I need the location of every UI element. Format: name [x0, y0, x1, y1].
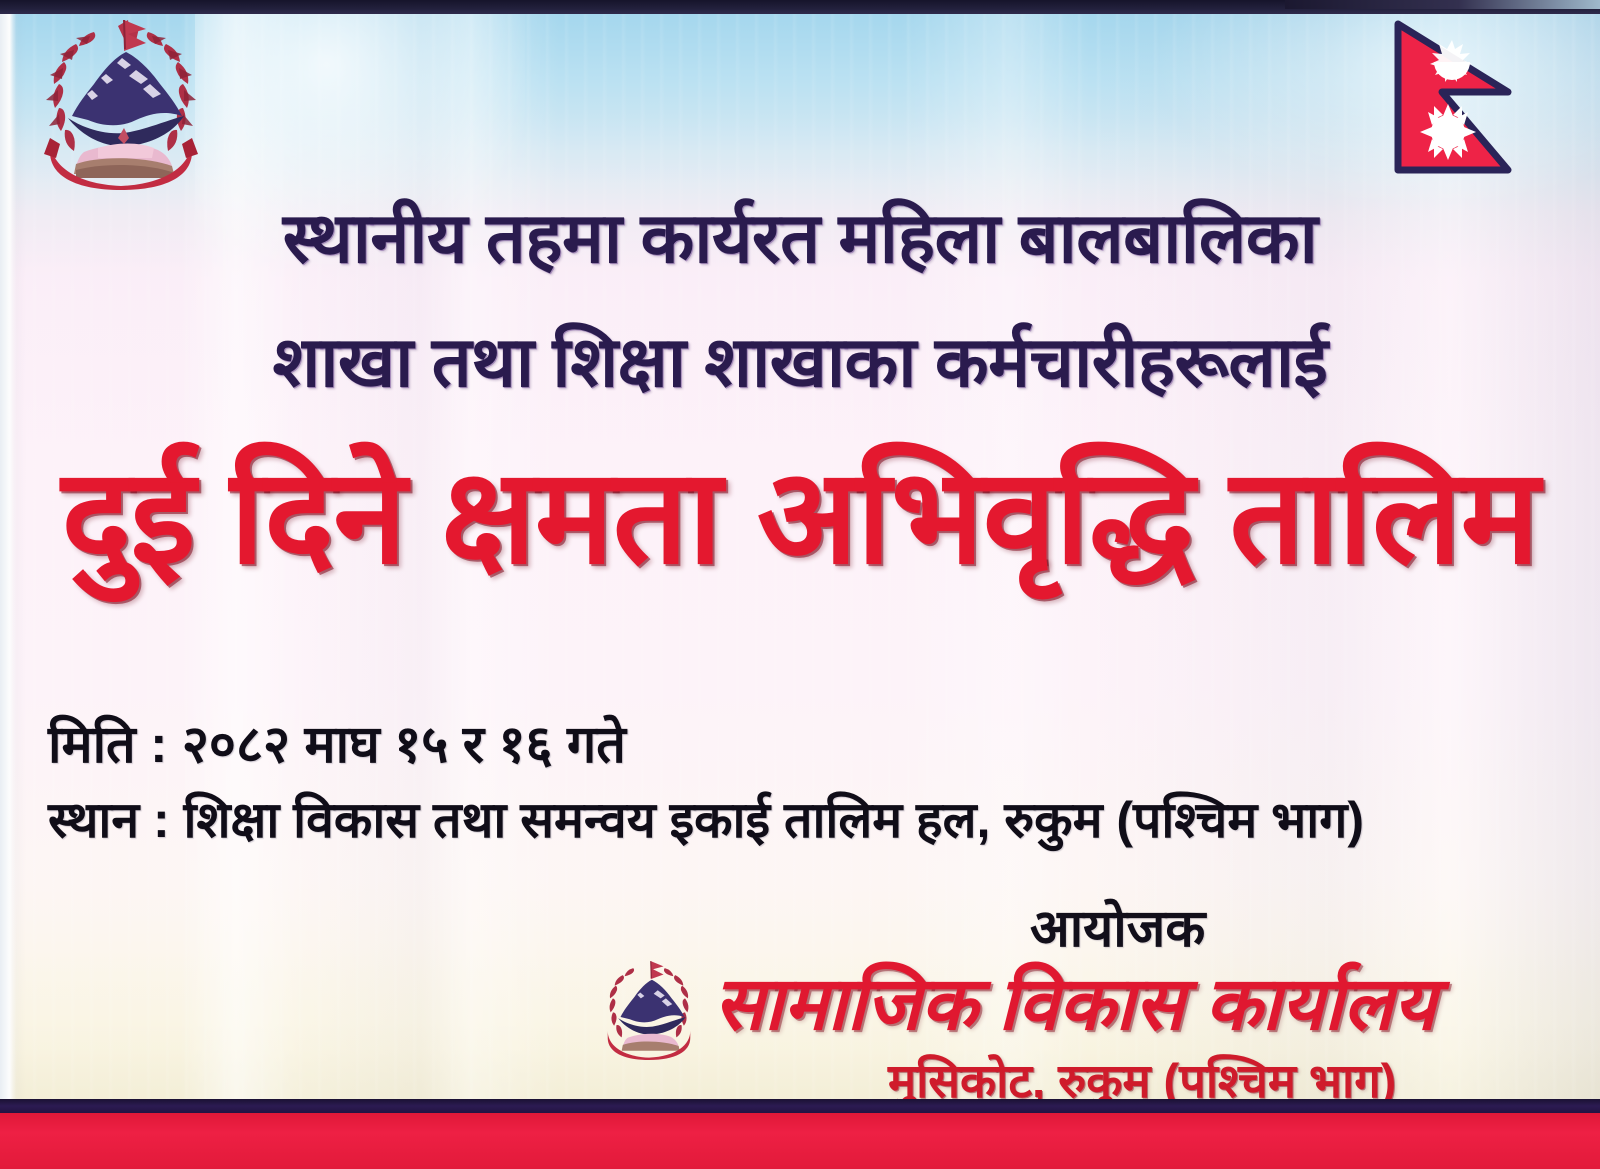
organizer-name: सामाजिक विकास कार्यालय [714, 960, 1436, 1048]
date-line: मिति : २०८२ माघ १५ र १६ गते [48, 714, 626, 776]
main-title: दुई दिने क्षमता अभिवृद्धि तालिम [0, 438, 1600, 596]
nepal-flag-icon [1390, 18, 1530, 178]
organizer-label: आयोजक [1030, 898, 1205, 960]
venue-line: स्थान : शिक्षा विकास तथा समन्वय इकाई ताल… [48, 790, 1364, 850]
nepal-government-emblem-icon-small [596, 960, 702, 1060]
bottom-navy-strip [0, 1099, 1600, 1113]
nepal-government-emblem-icon [32, 18, 210, 190]
bottom-red-strip [0, 1113, 1600, 1169]
heading-line-2: शाखा तथा शिक्षा शाखाका कर्मचारीहरूलाई [0, 320, 1600, 404]
heading-line-1: स्थानीय तहमा कार्यरत महिला बालबालिका [0, 196, 1600, 280]
top-dark-strip-right [1285, 0, 1600, 9]
training-banner: स्थानीय तहमा कार्यरत महिला बालबालिका शाख… [0, 0, 1600, 1169]
